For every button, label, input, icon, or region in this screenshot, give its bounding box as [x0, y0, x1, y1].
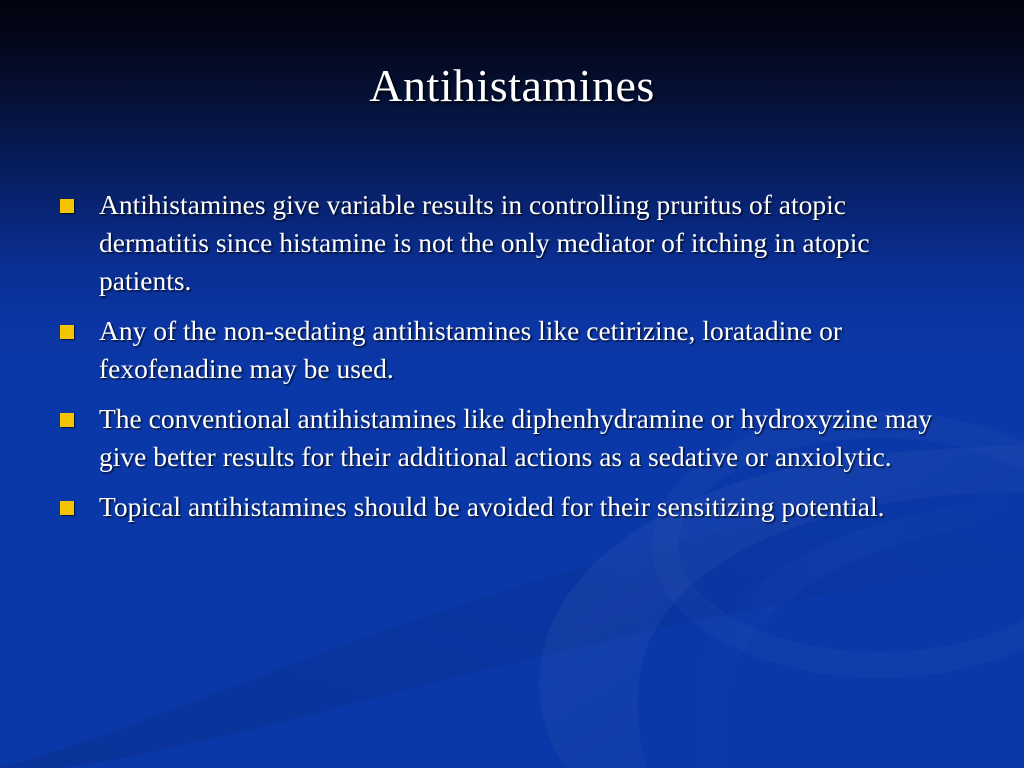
gold-square-bullet-icon: [60, 413, 74, 427]
gold-square-bullet-icon: [60, 199, 74, 213]
bullet-text: Topical antihistamines should be avoided…: [99, 488, 899, 526]
bullet-text: Antihistamines give variable results in …: [99, 186, 939, 300]
presentation-slide: Antihistamines Antihistamines give varia…: [0, 0, 1024, 768]
bullet-item: Any of the non-sedating antihistamines l…: [60, 312, 964, 388]
bullet-item: Topical antihistamines should be avoided…: [60, 488, 964, 526]
slide-body-content: Antihistamines give variable results in …: [60, 186, 964, 538]
gold-square-bullet-icon: [60, 501, 74, 515]
bullet-text: Any of the non-sedating antihistamines l…: [99, 312, 944, 388]
bullet-text: The conventional antihistamines like dip…: [99, 400, 961, 476]
gold-square-bullet-icon: [60, 325, 74, 339]
bullet-item: Antihistamines give variable results in …: [60, 186, 964, 300]
bullet-item: The conventional antihistamines like dip…: [60, 400, 964, 476]
slide-title: Antihistamines: [0, 62, 1024, 110]
